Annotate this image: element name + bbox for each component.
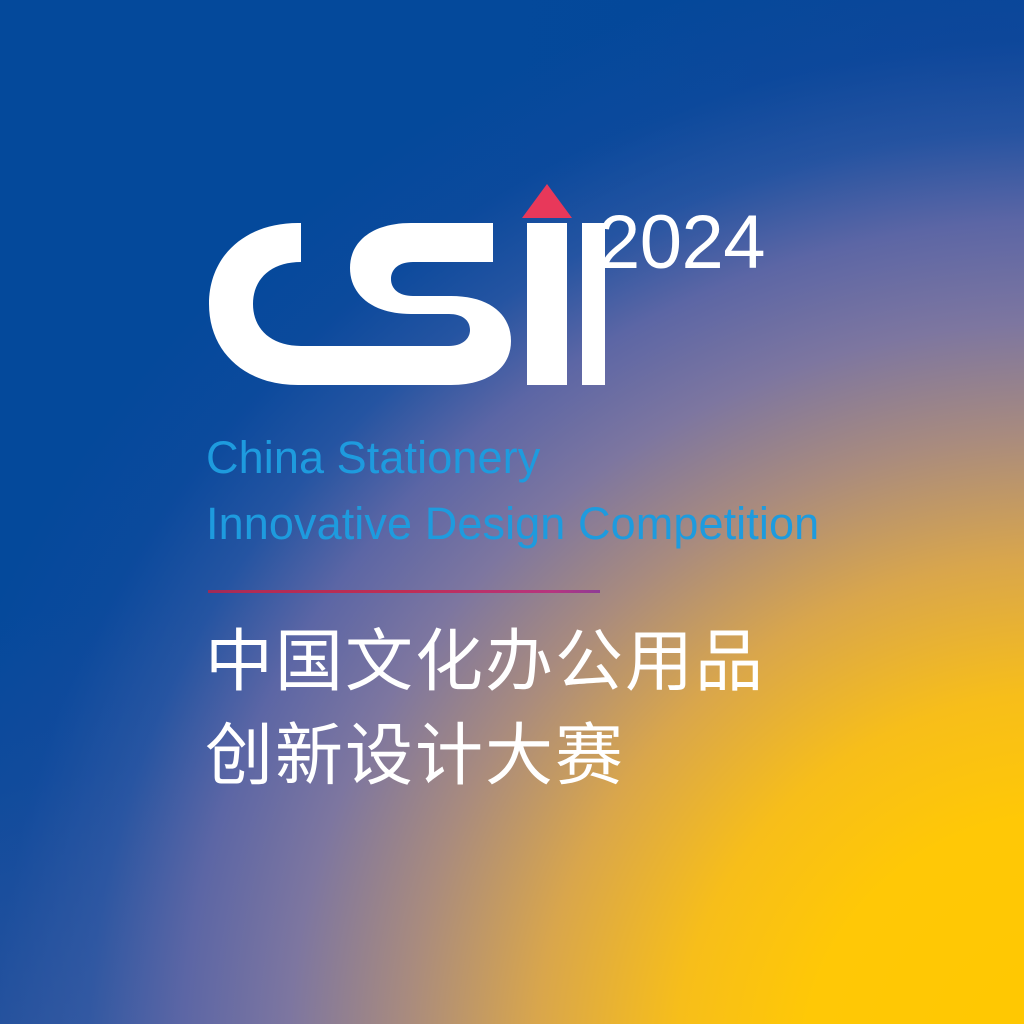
poster-canvas: 2024 China Stationery Innovative Design … xyxy=(0,0,1024,1024)
divider-rule xyxy=(208,590,600,593)
logo-year: 2024 xyxy=(598,205,765,281)
english-subtitle-line-2: Innovative Design Competition xyxy=(206,501,819,546)
poster-content: 2024 China Stationery Innovative Design … xyxy=(205,0,965,1024)
pencil-tip-triangle xyxy=(522,184,572,218)
english-subtitle-line-1: China Stationery xyxy=(206,435,540,480)
chinese-title-line-2: 创新设计大赛 xyxy=(205,722,625,790)
chinese-title-line-1: 中国文化办公用品 xyxy=(205,628,765,696)
csid-wordmark-icon xyxy=(205,178,605,393)
csid-logo-lockup: 2024 xyxy=(205,178,805,393)
